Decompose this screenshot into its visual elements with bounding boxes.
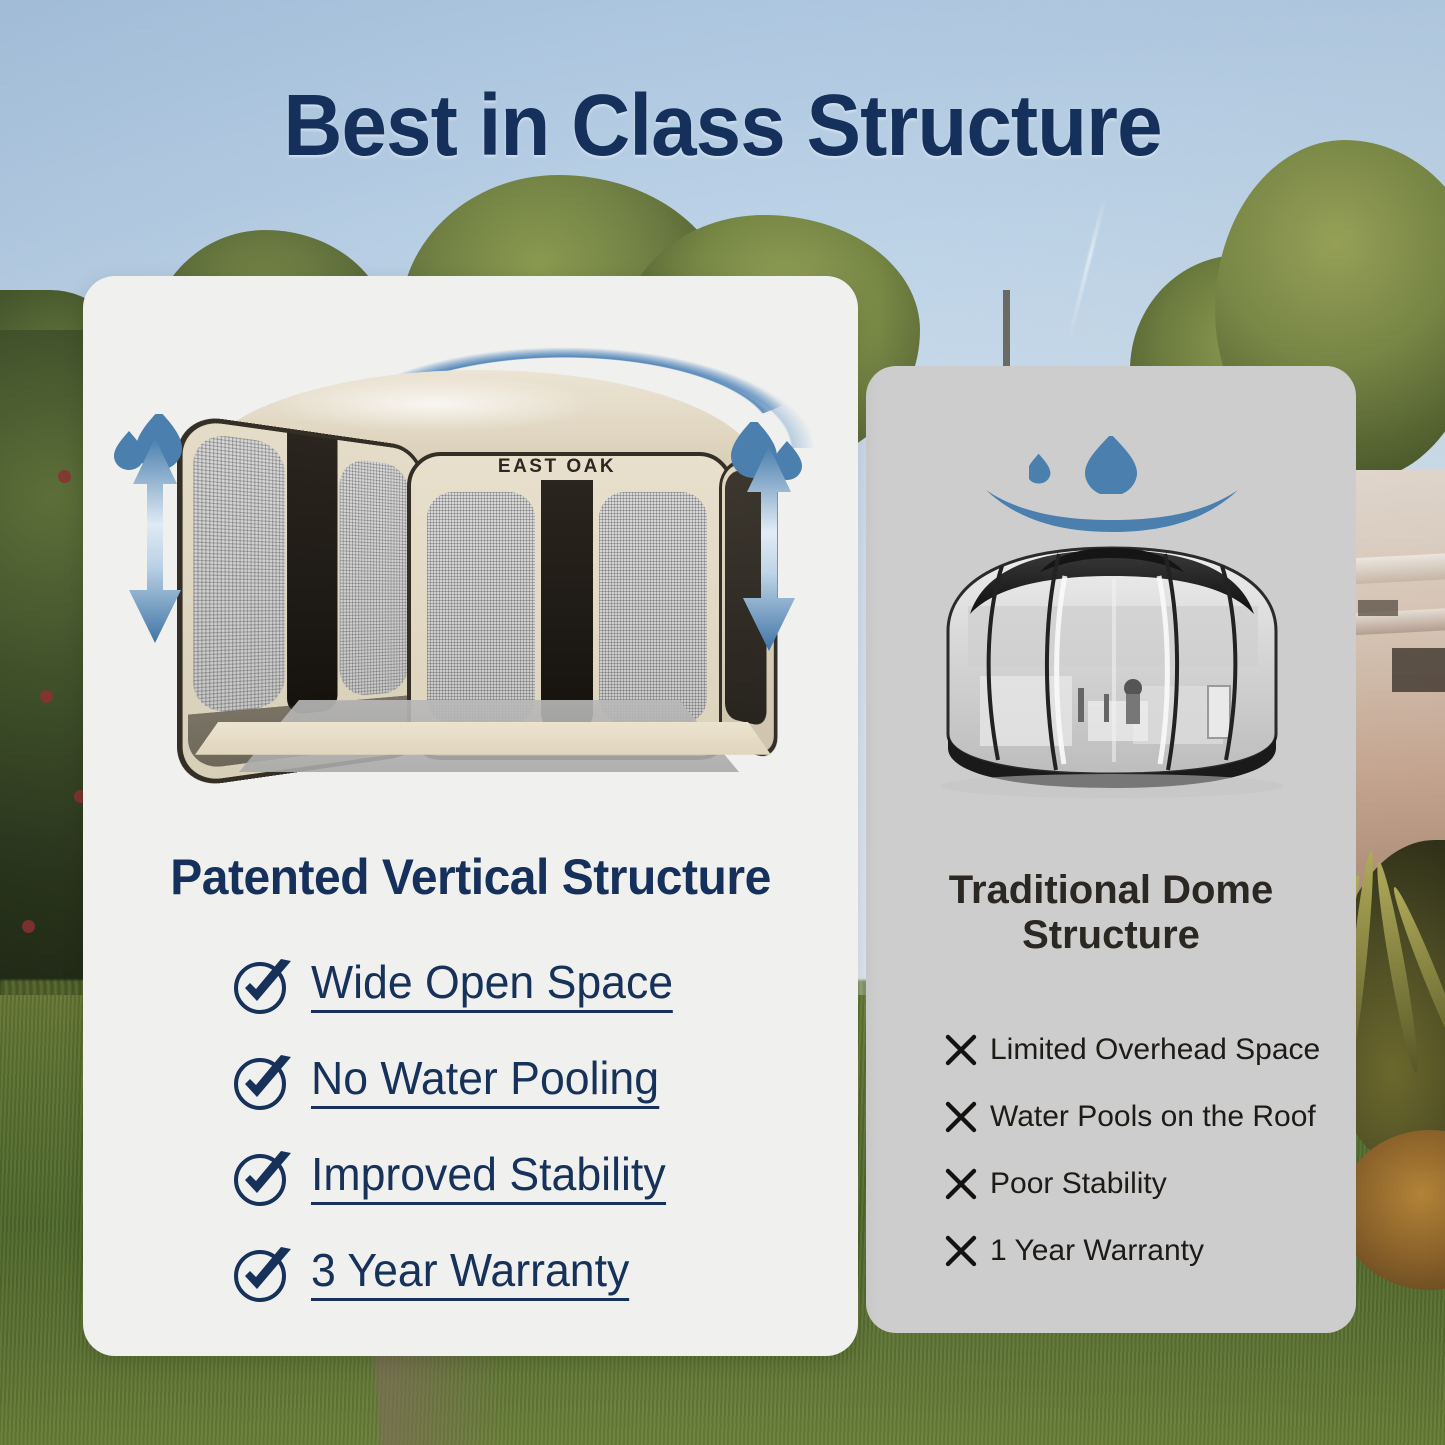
drawback-label: Limited Overhead Space: [990, 1033, 1320, 1067]
mesh-screen: [599, 492, 707, 724]
list-item: No Water Pooling: [231, 1034, 851, 1130]
feature-label: Improved Stability: [311, 1151, 666, 1206]
feature-label: 3 Year Warranty: [311, 1247, 629, 1302]
east-oak-tent-image: EAST OAK: [179, 370, 779, 770]
drawback-list: Limited Overhead Space Water Pools on th…: [944, 1016, 1344, 1284]
x-mark-icon: [944, 1234, 978, 1268]
list-item: Poor Stability: [944, 1150, 1344, 1217]
feature-label: No Water Pooling: [311, 1055, 659, 1110]
traditional-heading-line2: Structure: [1022, 913, 1200, 957]
vertical-clearance-arrow: [129, 438, 181, 643]
x-mark-icon: [944, 1033, 978, 1067]
mesh-screen: [193, 432, 284, 714]
x-mark-icon: [944, 1167, 978, 1201]
drawback-label: 1 Year Warranty: [990, 1234, 1204, 1268]
list-item: 1 Year Warranty: [944, 1217, 1344, 1284]
traditional-heading-line1: Traditional Dome: [949, 868, 1274, 912]
mesh-screen: [340, 457, 409, 697]
page-title: Best in Class Structure: [43, 76, 1401, 176]
list-item: Limited Overhead Space: [944, 1016, 1344, 1083]
dome-illustration: [866, 426, 1356, 846]
check-circle-icon: [231, 955, 293, 1017]
dome-gazebo-image: [928, 536, 1296, 801]
drawback-label: Poor Stability: [990, 1167, 1167, 1201]
infographic-root: Best in Class Structure: [0, 0, 1445, 1445]
x-mark-icon: [944, 1100, 978, 1134]
list-item: Wide Open Space: [231, 938, 851, 1034]
vertical-clearance-arrow: [743, 446, 795, 651]
comparison-card-patented: EAST OAK: [83, 276, 858, 1356]
pooling-curve-icon: [984, 482, 1240, 536]
feature-list: Wide Open Space No Water Pooling: [231, 938, 851, 1322]
canopy-highlight: [269, 376, 599, 432]
traditional-heading: Traditional Dome Structure: [886, 868, 1336, 958]
check-circle-icon: [231, 1051, 293, 1113]
list-item: 3 Year Warranty: [231, 1226, 851, 1322]
feature-label: Wide Open Space: [311, 959, 673, 1014]
panel-gap: [287, 433, 337, 715]
mesh-screen: [427, 492, 535, 724]
drawback-label: Water Pools on the Roof: [990, 1100, 1316, 1134]
check-circle-icon: [231, 1243, 293, 1305]
tent-illustration: EAST OAK: [83, 318, 858, 818]
list-item: Improved Stability: [231, 1130, 851, 1226]
check-circle-icon: [231, 1147, 293, 1209]
patented-heading: Patented Vertical Structure: [99, 848, 843, 906]
panel-gap: [541, 480, 593, 730]
comparison-card-traditional: Traditional Dome Structure Limited Overh…: [866, 366, 1356, 1333]
list-item: Water Pools on the Roof: [944, 1083, 1344, 1150]
brand-label: EAST OAK: [467, 454, 647, 480]
